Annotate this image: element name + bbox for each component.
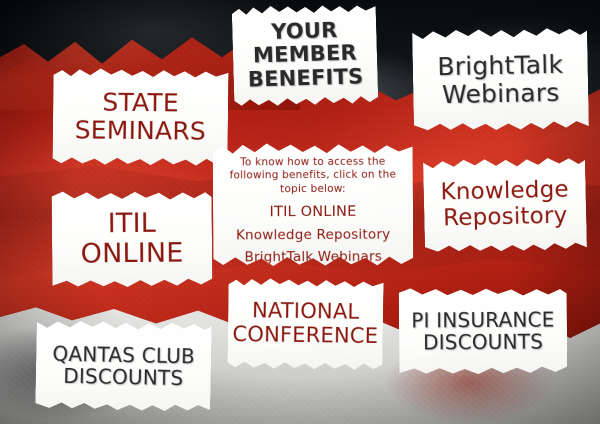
- card-brighttalk-webinars[interactable]: BrightTalk Webinars: [412, 25, 589, 133]
- card-title-line-2: ONLINE: [81, 239, 184, 270]
- card-title-line-3: BENEFITS: [248, 65, 364, 92]
- card-your-member-benefits: YOUR MEMBER BENEFITS: [232, 2, 379, 108]
- link-brighttalk-webinars[interactable]: BrightTalk Webinars: [244, 249, 382, 265]
- link-itil-online[interactable]: ITIL ONLINE: [270, 204, 357, 221]
- card-title-line-1: STATE: [102, 89, 179, 118]
- card-knowledge-repository[interactable]: Knowledge Repository: [423, 155, 587, 255]
- card-pi-insurance-discounts[interactable]: PI INSURANCE DISCOUNTS: [399, 286, 568, 375]
- instructions-intro-text: To know how to access the following bene…: [227, 156, 399, 197]
- card-title-line-1: BrightTalk: [437, 50, 563, 80]
- card-national-conference[interactable]: NATIONAL CONFERENCE: [227, 277, 383, 371]
- link-knowledge-repository[interactable]: Knowledge Repository: [236, 227, 390, 243]
- card-title-line-1: YOUR: [271, 19, 338, 44]
- poster-canvas: YOUR MEMBER BENEFITS BrightTalk Webinars…: [0, 0, 600, 424]
- card-title-line-2: Webinars: [442, 78, 560, 108]
- card-title-line-2: DISCOUNTS: [63, 365, 183, 390]
- card-title-line-1: PI INSURANCE: [411, 308, 554, 331]
- card-title-line-2: Repository: [443, 204, 568, 233]
- card-qantas-club-discounts[interactable]: QANTAS CLUB DISCOUNTS: [35, 318, 212, 413]
- card-title-line-1: ITIL: [108, 209, 157, 240]
- card-title-line-2: CONFERENCE: [232, 323, 378, 349]
- card-title-line-1: NATIONAL: [252, 300, 360, 325]
- panel-benefits-instructions: To know how to access the following bene…: [213, 141, 414, 267]
- card-itil-online[interactable]: ITIL ONLINE: [52, 189, 213, 288]
- card-title-line-2: SEMINARS: [75, 116, 207, 145]
- card-title-line-2: DISCOUNTS: [423, 331, 543, 354]
- card-state-seminars[interactable]: STATE SEMINARS: [52, 67, 228, 167]
